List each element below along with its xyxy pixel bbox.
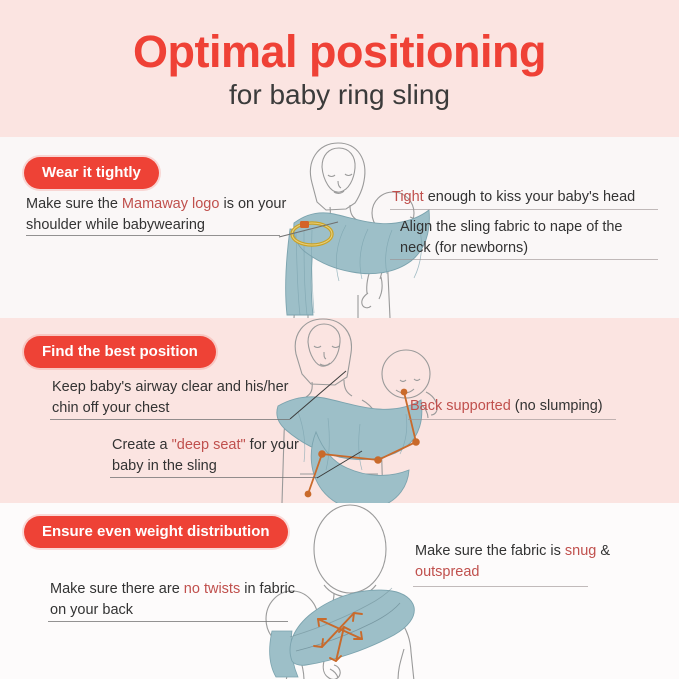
note-text: enough to kiss your baby's head: [424, 189, 636, 205]
leader-rule: [26, 235, 280, 236]
infographic-poster: Optimal positioning for baby ring sling …: [0, 0, 679, 679]
note-text: Make sure the fabric is: [415, 543, 565, 559]
note-text: &: [596, 543, 610, 559]
note-highlight: outspread: [415, 564, 480, 580]
note-highlight: no twists: [184, 581, 240, 597]
leader-rule: [110, 477, 318, 478]
leader-rule: [413, 586, 588, 587]
leader-rule: [50, 419, 290, 420]
leader-rule: [390, 209, 658, 210]
note-text: Keep baby's airway clear and his/her chi…: [52, 379, 289, 416]
leader-line: [288, 370, 348, 422]
note-highlight: Tight: [392, 189, 424, 205]
leader-rule: [390, 259, 658, 260]
note-mamaway-logo: Make sure the Mamaway logo is on your sh…: [26, 194, 301, 235]
note-text: Make sure there are: [50, 581, 184, 597]
leader-rule: [408, 419, 616, 420]
page-title: Optimal positioning: [133, 29, 546, 74]
section-badge-ensure-even-weight-distribution: Ensure even weight distribution: [24, 516, 288, 548]
note-text: Create a: [112, 437, 172, 453]
note-text: (no slumping): [511, 398, 603, 414]
leader-line: [316, 450, 364, 484]
note-back-supported: Back supported (no slumping): [410, 396, 660, 417]
section-wear-it-tightly: Wear it tightly: [0, 137, 679, 318]
section-badge-find-the-best-position: Find the best position: [24, 336, 216, 368]
note-text: Make sure the: [26, 196, 122, 212]
note-align-nape: Align the sling fabric to nape of the ne…: [400, 217, 652, 258]
section-badge-wear-it-tightly: Wear it tightly: [24, 157, 159, 189]
spread-arrows: [314, 613, 362, 661]
section-ensure-even-weight-distribution: Ensure even weight distribution: [0, 503, 679, 679]
note-highlight: Back supported: [410, 398, 511, 414]
sling-band: [290, 588, 414, 665]
note-tight-enough: Tight enough to kiss your baby's head: [392, 187, 662, 208]
note-highlight: Mamaway logo: [122, 196, 220, 212]
note-no-twists: Make sure there are no twists in fabric …: [50, 579, 300, 620]
note-highlight: snug: [565, 543, 596, 559]
note-deep-seat: Create a "deep seat" for your baby in th…: [112, 435, 317, 476]
note-snug-outspread: Make sure the fabric is snug & outspread: [415, 541, 645, 582]
leader-rule: [48, 621, 288, 622]
leader-line: [278, 220, 340, 248]
note-airway-clear: Keep baby's airway clear and his/her chi…: [52, 377, 292, 418]
note-text: Align the sling fabric to nape of the ne…: [400, 219, 622, 256]
poster-header: Optimal positioning for baby ring sling: [0, 0, 679, 137]
note-highlight: "deep seat": [172, 437, 246, 453]
page-subtitle: for baby ring sling: [229, 81, 450, 109]
section-find-the-best-position: Find the best position: [0, 318, 679, 503]
